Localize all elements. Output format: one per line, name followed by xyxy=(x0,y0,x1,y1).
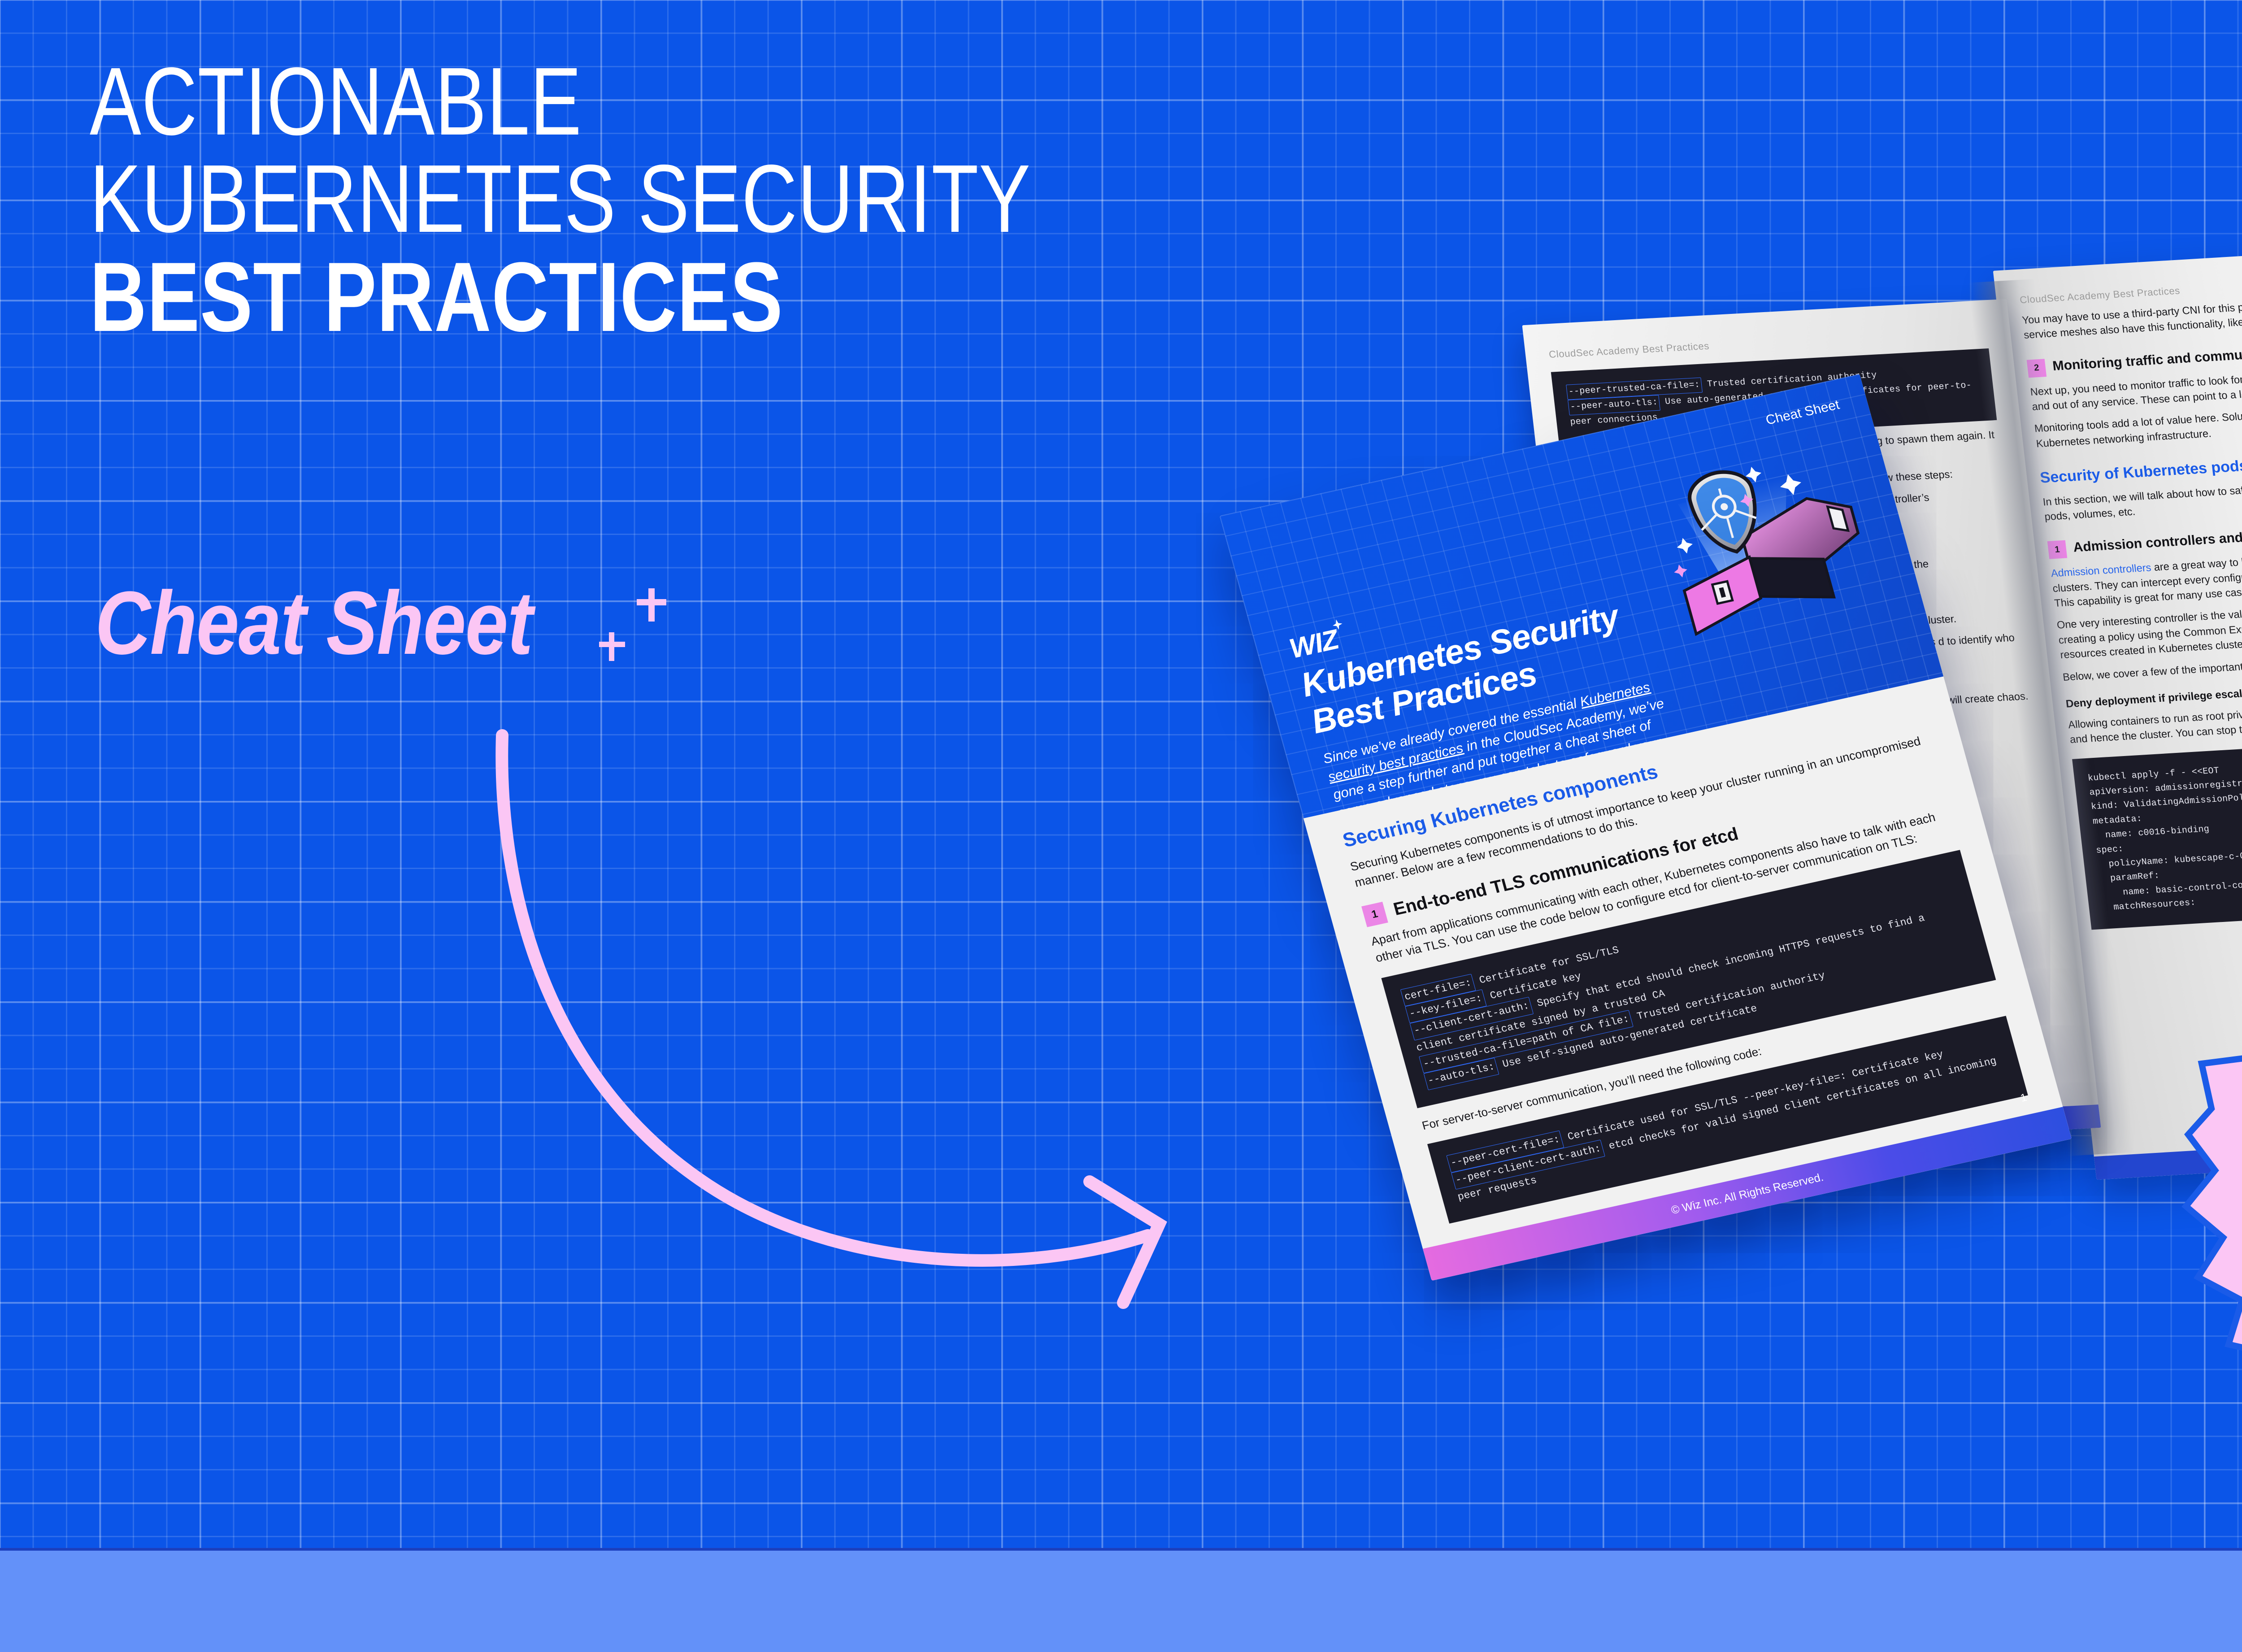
step-heading: Admission controllers and validating adm… xyxy=(2073,518,2242,556)
badge-label: A MUST-HAVE RESOURCE! xyxy=(2172,1076,2242,1201)
headline-line-2: KUBERNETES SECURITY xyxy=(90,151,1417,247)
plus-sparkle-icon xyxy=(605,578,740,677)
starburst-shape xyxy=(2157,942,2242,1534)
magazine-mockup: WIZ CloudSec Academy Best Practices You … xyxy=(1489,238,2242,1269)
step-number: 1 xyxy=(1361,902,1388,927)
headline-line-3: BEST PRACTICES xyxy=(90,248,1417,346)
inline-link[interactable]: Admission controllers xyxy=(2050,562,2151,579)
badge-line-2: RESOURCE! xyxy=(2172,1139,2242,1201)
headline-line-1: ACTIONABLE xyxy=(90,54,1417,149)
status-badge: A MUST-HAVE RESOURCE! xyxy=(2157,942,2242,1534)
step-heading: Monitoring traffic and communication xyxy=(2052,344,2242,374)
code-block: kubectl apply -f - <<EOT apiVersion: adm… xyxy=(2072,728,2242,930)
page-eyebrow: CloudSec Academy Best Practices xyxy=(2019,264,2242,306)
subtitle-group: Cheat Sheet xyxy=(95,578,740,677)
poster-canvas: ACTIONABLE KUBERNETES SECURITY BEST PRAC… xyxy=(0,0,2242,1652)
step-number: 1 xyxy=(2047,540,2068,559)
step-number: 2 xyxy=(2027,359,2047,378)
curved-arrow-icon xyxy=(430,726,1439,1318)
subtitle: Cheat Sheet xyxy=(95,578,532,668)
bottom-accent-bar xyxy=(0,1548,2242,1652)
